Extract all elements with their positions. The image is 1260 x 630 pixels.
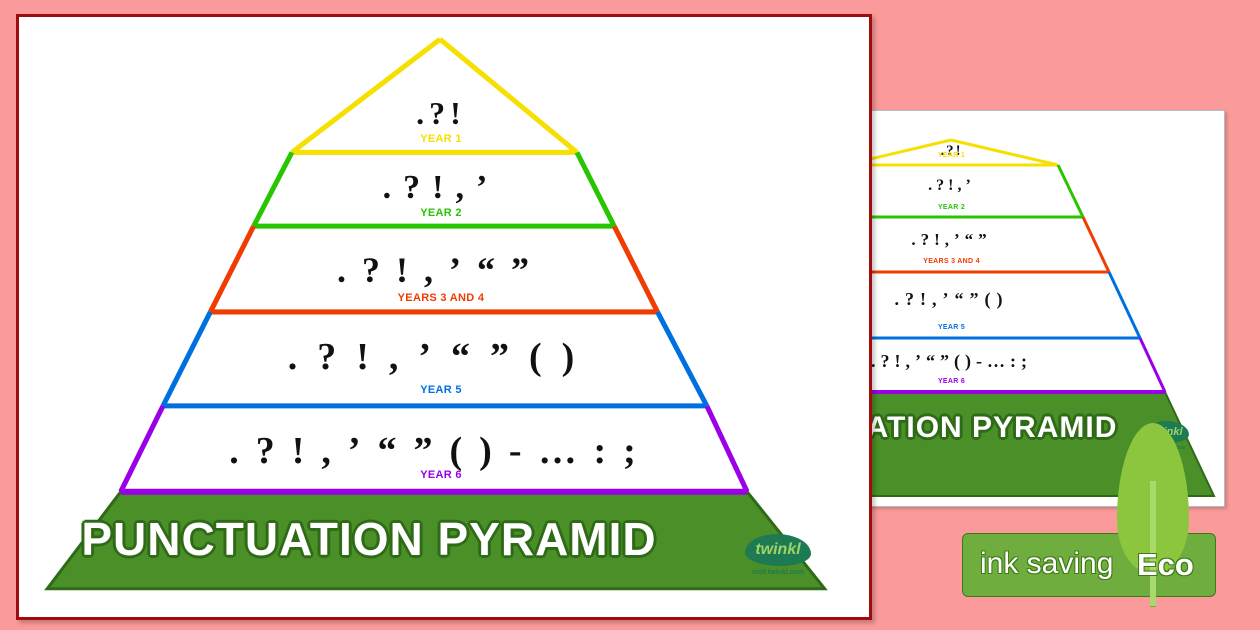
worksheet-card-front[interactable]: .?! .?!,’ .?!,’“” .?!,’“”() .?!,’“”()-…:… xyxy=(16,14,872,620)
screenshot-canvas: .?! .?!,’ .?!,’“” .?!,’“”() .?!,’“”()-…:… xyxy=(0,0,1260,630)
level-band-years34-front xyxy=(210,226,657,312)
pyramid-svg-front xyxy=(19,17,869,617)
leaf-icon xyxy=(1117,423,1189,613)
ink-saving-eco-badge: ink saving Eco xyxy=(962,533,1214,595)
ink-saving-label: ink saving xyxy=(980,547,1113,581)
level-band-year1-front xyxy=(292,39,577,152)
pyramid-base-front xyxy=(47,492,824,589)
level-band-year5-front xyxy=(163,312,707,406)
eco-label: Eco xyxy=(1137,547,1194,583)
level-band-year1-back xyxy=(845,140,1058,165)
level-band-year2-front xyxy=(254,152,615,226)
pyramid-diagram-front: .?! .?!,’ .?!,’“” .?!,’“”() .?!,’“”()-…:… xyxy=(19,17,869,617)
leaf-stem xyxy=(1150,481,1156,606)
level-band-year6-front xyxy=(121,406,747,492)
